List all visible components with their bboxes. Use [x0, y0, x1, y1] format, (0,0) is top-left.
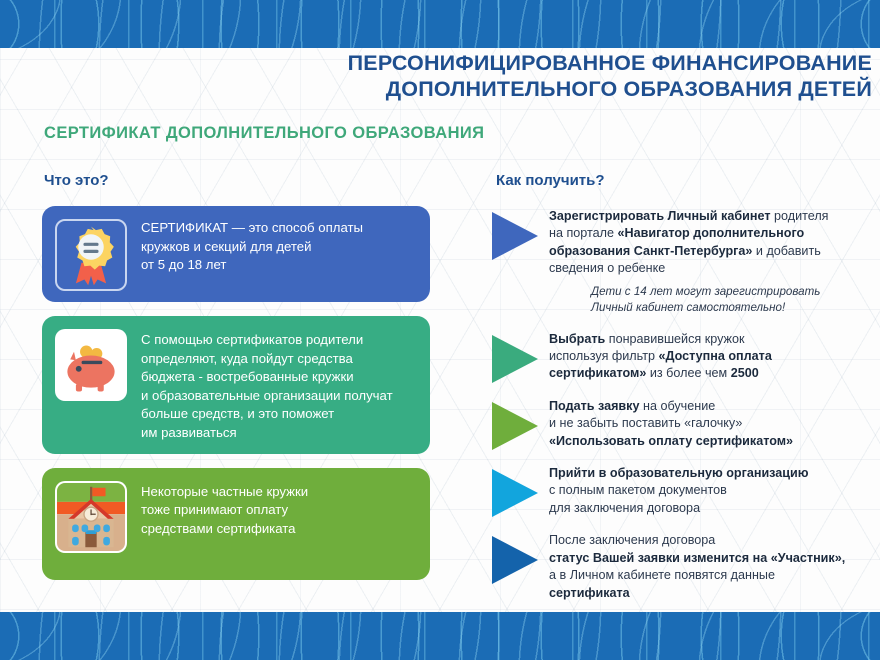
top-blue-band — [0, 0, 880, 48]
step-text-plain: родителя — [771, 209, 829, 223]
step-text-bold: Зарегистрировать Личный кабинет — [549, 209, 771, 223]
step-text-plain: из более чем — [646, 366, 730, 380]
step-text-plain: на портале — [549, 226, 618, 240]
step-item: Выбрать понравившейся кружок используя ф… — [492, 329, 880, 383]
step-text-plain: с полным пакетом документов — [549, 483, 727, 497]
step-text-plain: для заключения договора — [549, 501, 700, 515]
arrow-right-icon — [492, 536, 538, 584]
step-text: После заключения договора статус Вашей з… — [549, 530, 845, 602]
step-list: Зарегистрировать Личный кабинет родителя… — [492, 206, 880, 615]
arrow-right-icon — [492, 469, 538, 517]
step-text: Прийти в образовательную организацию с п… — [549, 463, 809, 517]
page-title-line-2: ДОПОЛНИТЕЛЬНОГО ОБРАЗОВАНИЯ ДЕТЕЙ — [212, 76, 872, 102]
step-text-bold: сертификатом» — [549, 366, 646, 380]
step-text-bold: сертификата — [549, 586, 630, 600]
step-text-bold: 2500 — [731, 366, 759, 380]
info-card-list: СЕРТИФИКАТ — это способ оплаты кружков и… — [42, 206, 430, 594]
info-card-budget: С помощью сертификатов родители определя… — [42, 316, 430, 454]
step-text-plain: используя фильтр — [549, 349, 659, 363]
step-text-bold: образования Санкт-Петербурга» — [549, 244, 752, 258]
arrow-right-icon — [492, 335, 538, 383]
info-card-text: СЕРТИФИКАТ — это способ оплаты кружков и… — [141, 217, 363, 275]
step-item: После заключения договора статус Вашей з… — [492, 530, 880, 602]
step-text-bold: «Доступна оплата — [659, 349, 772, 363]
school-building-icon — [55, 481, 127, 553]
piggy-bank-icon-art — [57, 331, 125, 399]
info-card-private-clubs: Некоторые частные кружки тоже принимают … — [42, 468, 430, 580]
step-text-bold: статус Вашей заявки изменится на «Участн… — [549, 551, 845, 565]
left-column-heading: Что это? — [44, 172, 109, 189]
step-text-plain: После заключения договора — [549, 533, 715, 547]
piggy-bank-icon — [55, 329, 127, 401]
step-text-plain: и не забыть поставить «галочку» — [549, 416, 742, 430]
step-note: Дети с 14 лет могут зарегистрировать Лич… — [591, 284, 829, 316]
info-card-text: С помощью сертификатов родители определя… — [141, 327, 393, 443]
step-text-bold: «Навигатор дополнительного — [618, 226, 805, 240]
page-title-line-1: ПЕРСОНИФИЦИРОВАННОЕ ФИНАНСИРОВАНИЕ — [348, 51, 872, 75]
step-text-plain: понравившейся кружок — [605, 332, 744, 346]
step-text: Выбрать понравившейся кружок используя ф… — [549, 329, 772, 383]
step-text-bold: «Использовать оплату сертификатом» — [549, 434, 793, 448]
band-mesh-pattern-secondary — [0, 612, 880, 660]
info-card-text: Некоторые частные кружки тоже принимают … — [141, 479, 308, 539]
step-text-plain: и добавить — [752, 244, 820, 258]
step-text-bold: Выбрать — [549, 332, 605, 346]
bottom-blue-band — [0, 612, 880, 660]
medal-icon — [55, 219, 127, 291]
step-item: Подать заявку на обучение и не забыть по… — [492, 396, 880, 450]
page-subtitle: СЕРТИФИКАТ ДОПОЛНИТЕЛЬНОГО ОБРАЗОВАНИЯ — [44, 124, 484, 143]
infographic-page: ПЕРСОНИФИЦИРОВАННОЕ ФИНАНСИРОВАНИЕ ДОПОЛ… — [0, 0, 880, 660]
right-column-heading: Как получить? — [496, 172, 605, 189]
step-text: Подать заявку на обучение и не забыть по… — [549, 396, 793, 450]
step-text: Зарегистрировать Личный кабинет родителя… — [549, 206, 829, 316]
arrow-right-icon — [492, 402, 538, 450]
arrow-right-icon — [492, 212, 538, 260]
step-text-bold: Прийти в образовательную организацию — [549, 466, 809, 480]
step-text-bold: Подать заявку — [549, 399, 639, 413]
medal-icon-art — [57, 221, 125, 289]
step-text-plain: а в Личном кабинете появятся данные — [549, 568, 775, 582]
band-mesh-pattern-secondary — [0, 0, 880, 48]
info-card-certificate: СЕРТИФИКАТ — это способ оплаты кружков и… — [42, 206, 430, 302]
school-building-icon-art — [57, 483, 125, 551]
step-item: Прийти в образовательную организацию с п… — [492, 463, 880, 517]
step-text-plain: на обучение — [639, 399, 715, 413]
step-text-plain: сведения о ребенке — [549, 261, 665, 275]
step-item: Зарегистрировать Личный кабинет родителя… — [492, 206, 880, 316]
page-title: ПЕРСОНИФИЦИРОВАННОЕ ФИНАНСИРОВАНИЕ ДОПОЛ… — [212, 50, 872, 102]
